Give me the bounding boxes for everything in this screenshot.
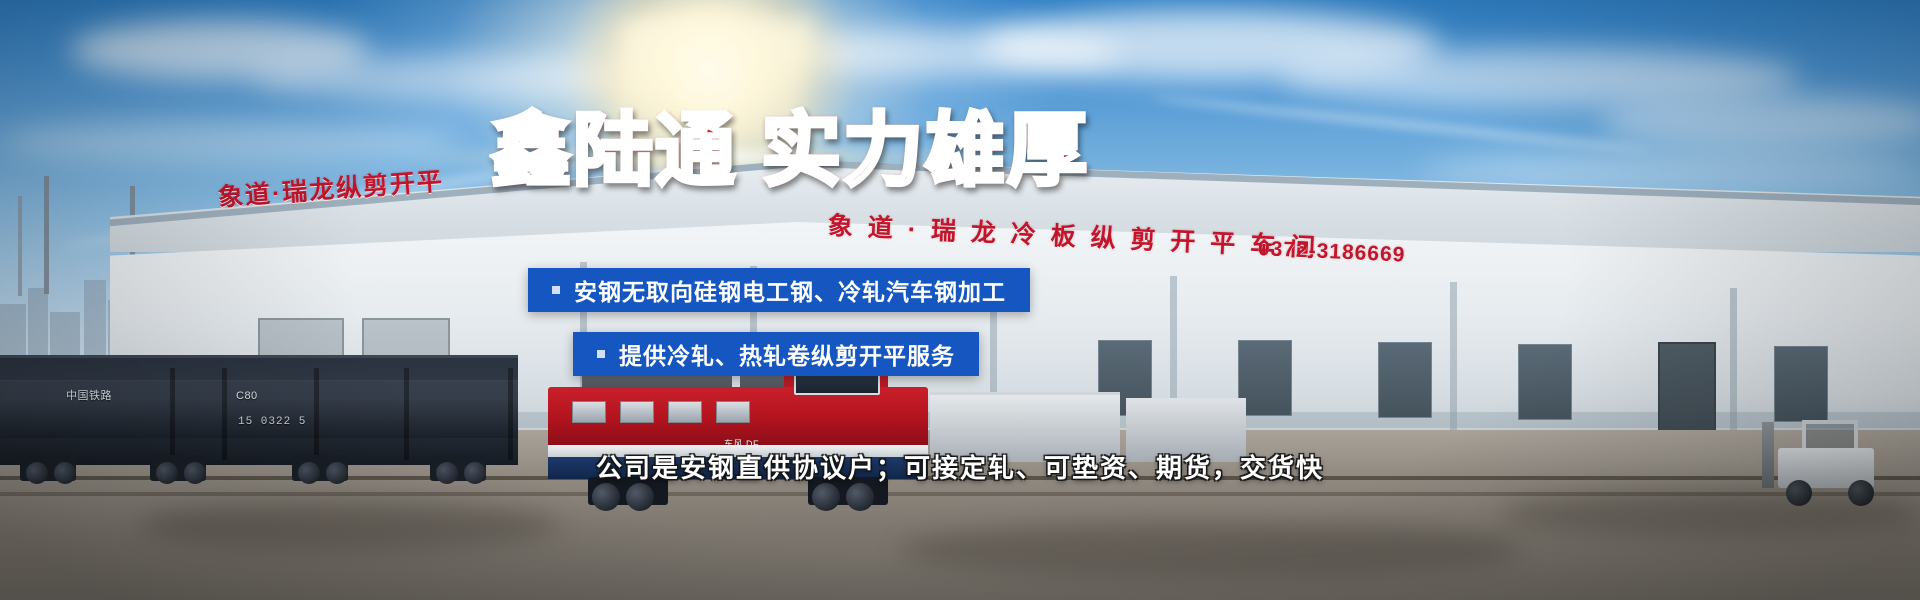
square-bullet-icon <box>552 286 560 294</box>
wagon-logo-label: 中国铁路 <box>66 390 112 403</box>
tagline-text: 公司是安钢直供协议户；可接定轧、可垫资、期货，交货快 <box>596 448 1324 485</box>
promo-banner: 象道·瑞龙纵剪开平 象 道 · 瑞 龙 冷 板 纵 剪 开 平 车 间 0372… <box>0 0 1920 600</box>
callout-1-text: 安钢无取向硅钢电工钢、冷轧汽车钢加工 <box>574 273 1006 307</box>
factory-window <box>1378 342 1432 418</box>
utility-pole <box>18 196 22 296</box>
tagline: 公司是安钢直供协议户；可接定轧、可垫资、期货，交货快 <box>0 448 1920 485</box>
cloud-icon <box>0 120 460 164</box>
factory-window <box>1518 344 1572 420</box>
wagon-logo-label: C80 <box>236 390 258 403</box>
wagon-number-label: 15 0322 5 <box>238 416 306 428</box>
cloud-icon <box>1600 95 1920 147</box>
headline-part-1: 鑫陆通 <box>491 111 737 191</box>
headline-part-2: 实力雄厚 <box>761 111 1089 191</box>
callout-box-1: 安钢无取向硅钢电工钢、冷轧汽车钢加工 <box>528 268 1030 312</box>
factory-window <box>1774 346 1828 422</box>
factory-window <box>1238 340 1292 416</box>
callout-box-2: 提供冷轧、热轧卷纵剪开平服务 <box>573 332 979 376</box>
page-title: 鑫陆通 实力雄厚 <box>460 104 1120 198</box>
square-bullet-icon <box>597 350 605 358</box>
callout-2-text: 提供冷轧、热轧卷纵剪开平服务 <box>619 337 955 371</box>
utility-pole <box>44 176 49 294</box>
